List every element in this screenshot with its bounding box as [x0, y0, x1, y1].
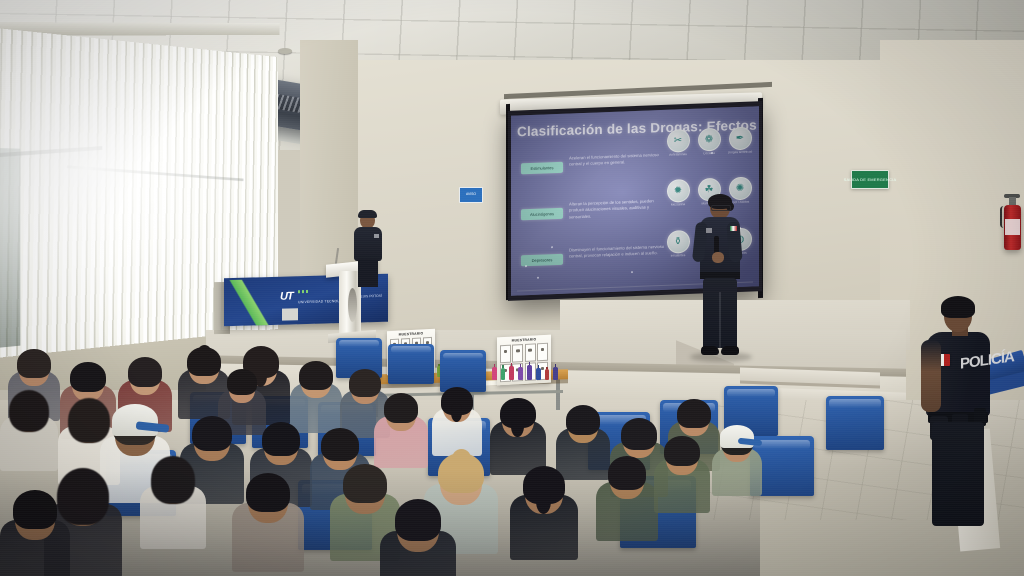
audience-hair: [262, 422, 301, 456]
police-officer-at-podium: [352, 212, 386, 284]
auditorium-photo: Clasificación de las Drogas: Efectos Est…: [0, 0, 1024, 576]
officer-legs: [358, 259, 378, 287]
audience-hair: [664, 436, 699, 467]
presenter-hands: [712, 252, 724, 263]
cap-brim: [737, 438, 762, 447]
fire-extinguisher-label: [1005, 219, 1020, 235]
wall-notice-sign: AVISO: [459, 187, 483, 203]
cap-brim: [136, 422, 169, 434]
officer-legs: [932, 422, 984, 526]
smoke-detector-icon: [278, 48, 292, 54]
foreground-shadow: [0, 470, 760, 576]
officer-torso: [354, 227, 382, 261]
baseball-cap-icon: [720, 425, 754, 448]
presenter-name-badge: [706, 228, 712, 233]
audience-ponytail: [511, 416, 524, 437]
audience-hair: [677, 399, 710, 428]
audience-hair-bun: [452, 449, 471, 468]
podium-cutout: [348, 288, 357, 322]
audience-hair-bun: [198, 345, 211, 358]
audience-hair: [321, 428, 359, 461]
officer-shoulder-patch: [374, 234, 379, 238]
logo-accent-dots: [298, 290, 310, 293]
audience-member: [0, 388, 58, 475]
mexican-flag-patch-icon: [730, 226, 737, 231]
audience-curly-hair: [9, 390, 49, 432]
officer-arm: [921, 340, 941, 412]
auditorium-chair[interactable]: [826, 396, 884, 450]
exit-sign-label: SALIDA DE EMERGENCIA: [844, 177, 897, 182]
audience-hair: [192, 416, 232, 451]
audience-hair: [299, 361, 332, 390]
audience-hair: [227, 369, 258, 395]
audience-hair: [566, 405, 600, 435]
police-officer-standing: POLICÍA: [922, 296, 996, 530]
audience-hair: [70, 362, 105, 393]
officer-hair: [941, 296, 975, 318]
audience-hair: [128, 357, 162, 387]
audience-hair: [17, 349, 50, 378]
audience-hair: [621, 418, 657, 450]
glasses-icon: [711, 205, 731, 211]
fire-extinguisher-hose: [1000, 206, 1007, 228]
officer-cap: [358, 210, 377, 218]
notice-sign-label: AVISO: [460, 188, 482, 200]
audience-member: [374, 390, 428, 471]
baseball-cap-icon: [112, 404, 157, 436]
banner-taped-paper: [282, 308, 298, 320]
ut-logo: UT: [280, 291, 293, 302]
audience-hair: [384, 393, 418, 423]
emergency-exit-sign: SALIDA DE EMERGENCIA: [851, 170, 889, 189]
